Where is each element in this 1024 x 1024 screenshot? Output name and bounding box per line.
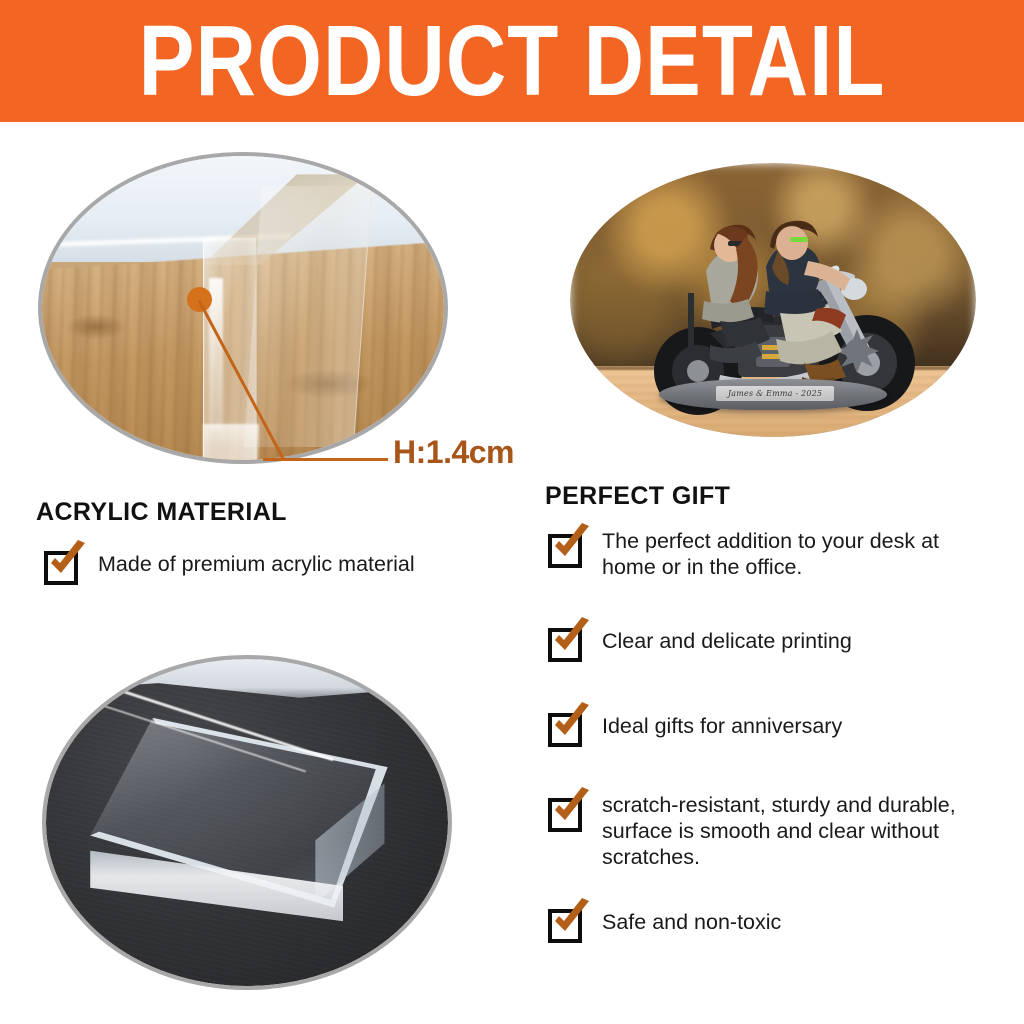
checkbox-checked-icon [548,794,586,832]
feature-text: The perfect addition to your desk at hom… [602,528,998,580]
photo-acrylic-block-on-slate [42,655,452,990]
wood-knot [66,314,126,340]
checkbox-checked-icon [548,624,586,662]
checkbox-checked-icon [548,530,586,568]
feature-text: Clear and delicate printing [602,628,852,654]
checkbox-checked-icon [548,709,586,747]
heading-perfect-gift: PERFECT GIFT [545,482,730,511]
acrylic-slab-body [244,186,372,447]
feature-item: Made of premium acrylic material [44,545,514,585]
photo-acrylic-edge-on-wood [38,152,448,464]
heading-acrylic-material: ACRYLIC MATERIAL [36,498,287,527]
header-banner: PRODUCT DETAIL [0,0,1024,122]
feature-text: scratch-resistant, sturdy and durable, s… [602,792,1008,871]
checkbox-checked-icon [44,547,82,585]
acrylic-base-glow [203,424,259,460]
photo-acrylic-block-inner [46,659,448,986]
page-title: PRODUCT DETAIL [139,12,886,112]
nameplate: James & Emma - 2025 [716,386,834,401]
checkbox-checked-icon [548,905,586,943]
nameplate-text: James & Emma - 2025 [728,389,822,398]
feature-item: Ideal gifts for anniversary [548,707,998,747]
photo-acrylic-edge-inner [42,156,444,460]
feature-text: Ideal gifts for anniversary [602,713,842,739]
feature-item: Clear and delicate printing [548,622,998,662]
feature-item: The perfect addition to your desk at hom… [548,528,998,580]
feature-text: Made of premium acrylic material [98,551,415,577]
feature-item: Safe and non-toxic [548,903,998,943]
photo-motorcycle-plaque: James & Emma - 2025 [570,163,976,437]
photo-motorcycle-inner: James & Emma - 2025 [570,163,976,437]
thickness-label: H:1.4cm [393,434,514,471]
callout-leader-line-horizontal [263,458,388,461]
feature-text: Safe and non-toxic [602,909,781,935]
feature-item: scratch-resistant, sturdy and durable, s… [548,792,1008,871]
